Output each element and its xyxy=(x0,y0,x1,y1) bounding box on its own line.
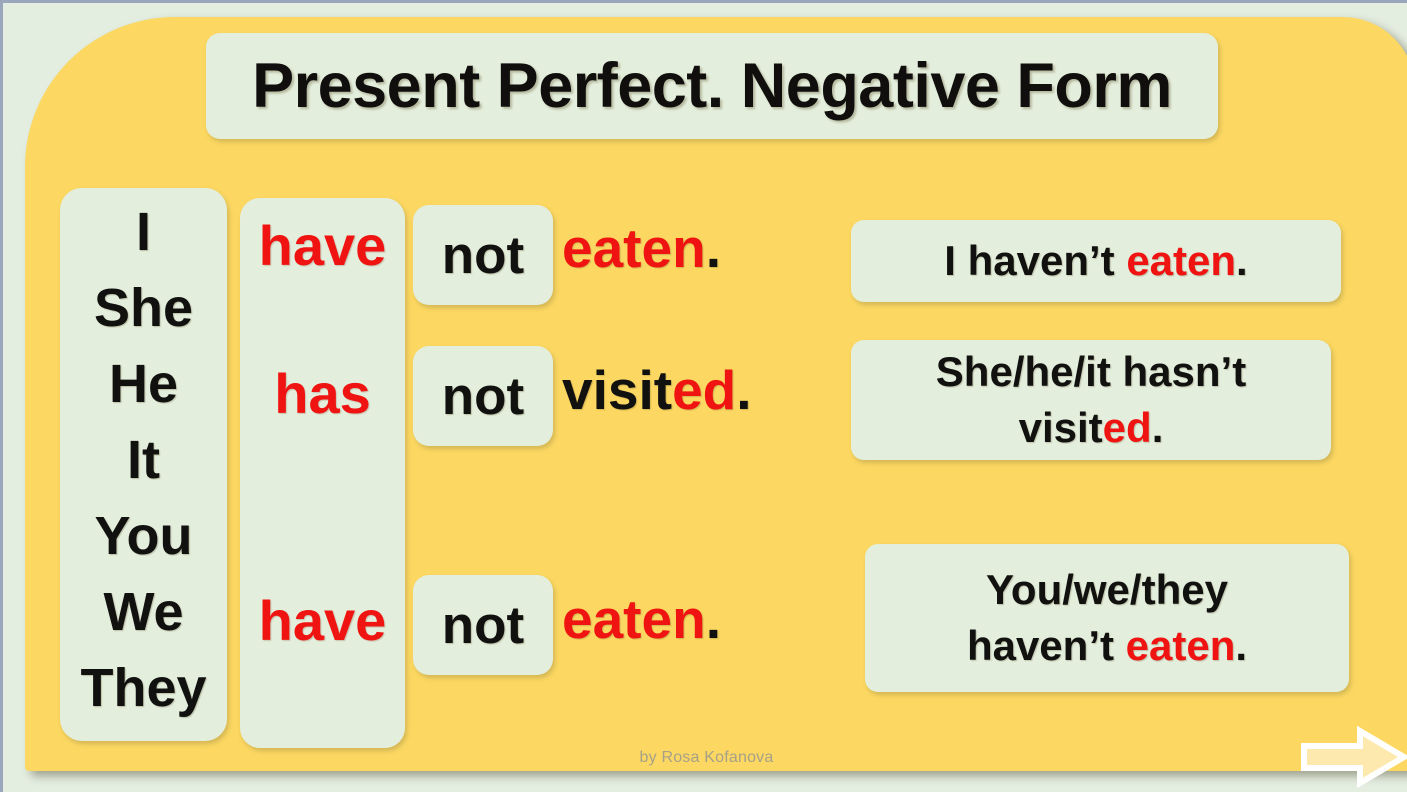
participle-highlight: ed xyxy=(672,359,736,421)
auxiliary-have-plural: have xyxy=(240,213,405,278)
example-highlight: eaten xyxy=(1126,237,1236,284)
negator-label: not xyxy=(442,225,524,286)
example-highlight: eaten xyxy=(1126,622,1236,669)
example-suffix: . xyxy=(1152,404,1164,451)
example-sentence-3: You/we/they haven’t eaten. xyxy=(865,544,1349,692)
participle-punctuation: . xyxy=(706,217,721,279)
pronoun-item: I xyxy=(136,194,151,270)
participle-2: visited. xyxy=(562,358,752,422)
pronoun-item: We xyxy=(103,574,183,650)
negator-label: not xyxy=(442,366,524,427)
slide-canvas: Present Perfect. Negative Form I She He … xyxy=(0,0,1407,792)
pronoun-column: I She He It You We They xyxy=(60,188,227,741)
example-highlight: ed xyxy=(1103,404,1152,451)
example-sentence-1: I haven’t eaten. xyxy=(851,220,1341,302)
example-suffix: . xyxy=(1235,622,1247,669)
example-prefix: I haven’t xyxy=(944,237,1126,284)
negator-box-3: not xyxy=(413,575,553,675)
example-prefix: She/he/it hasn’t xyxy=(936,348,1246,395)
participle-highlight: eaten xyxy=(562,217,706,279)
example-prefix: You/we/they xyxy=(986,566,1228,613)
participle-3: eaten. xyxy=(562,587,721,651)
auxiliary-have-plural-2: have xyxy=(240,588,405,653)
example-line2-prefix: haven’t xyxy=(967,622,1126,669)
example-line2-prefix: visit xyxy=(1019,404,1103,451)
title-panel: Present Perfect. Negative Form xyxy=(206,33,1218,139)
participle-punctuation: . xyxy=(706,588,721,650)
example-text: You/we/they haven’t eaten. xyxy=(967,562,1247,674)
example-text: She/he/it hasn’t visited. xyxy=(936,344,1246,456)
example-suffix: . xyxy=(1236,237,1248,284)
example-sentence-2: She/he/it hasn’t visited. xyxy=(851,340,1331,460)
participle-punctuation: . xyxy=(736,359,751,421)
arrow-right-icon[interactable] xyxy=(1298,726,1407,788)
participle-stem: visit xyxy=(562,359,672,421)
participle-1: eaten. xyxy=(562,216,721,280)
pronoun-item: It xyxy=(127,422,160,498)
pronoun-item: He xyxy=(109,346,178,422)
page-title: Present Perfect. Negative Form xyxy=(252,50,1172,122)
pronoun-item: They xyxy=(80,650,206,726)
pronoun-item: She xyxy=(94,270,193,346)
negator-box-1: not xyxy=(413,205,553,305)
negator-box-2: not xyxy=(413,346,553,446)
negator-label: not xyxy=(442,595,524,656)
example-text: I haven’t eaten. xyxy=(944,233,1247,289)
pronoun-item: You xyxy=(95,498,193,574)
participle-highlight: eaten xyxy=(562,588,706,650)
attribution-credit: by Rosa Kofanova xyxy=(3,749,1407,767)
auxiliary-has-singular: has xyxy=(240,361,405,426)
auxiliary-column: have has have xyxy=(240,198,405,748)
